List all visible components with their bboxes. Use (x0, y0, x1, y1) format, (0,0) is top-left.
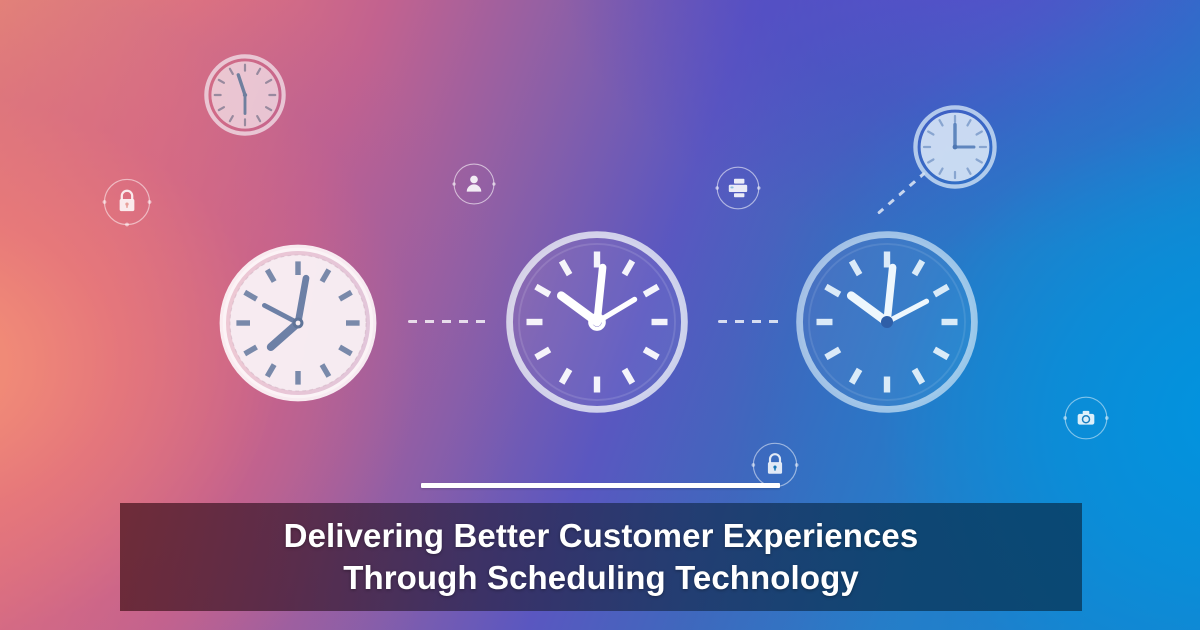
badge-camera (1061, 393, 1111, 443)
clock-large-left (218, 243, 378, 403)
clock-small-top-left (203, 53, 287, 137)
title-divider-rule (421, 483, 780, 488)
badge-lock-left (101, 176, 153, 228)
printer-icon (729, 179, 747, 197)
hero-banner: Delivering Better Customer Experiences T… (0, 0, 1200, 630)
clock-small-top-right (912, 104, 998, 190)
connector-left-center (408, 320, 492, 323)
title-overlay-band: Delivering Better Customer Experiences T… (120, 503, 1082, 611)
user-icon (467, 176, 482, 192)
connector-center-right (718, 320, 782, 323)
clock-large-right (793, 228, 981, 416)
lock-icon (120, 191, 135, 211)
title-line-1: Delivering Better Customer Experiences (284, 515, 919, 557)
clock-large-center (503, 228, 691, 416)
title-line-2: Through Scheduling Technology (343, 557, 859, 599)
lock-icon (768, 454, 782, 474)
badge-printer (714, 164, 762, 212)
badge-user (451, 161, 497, 207)
